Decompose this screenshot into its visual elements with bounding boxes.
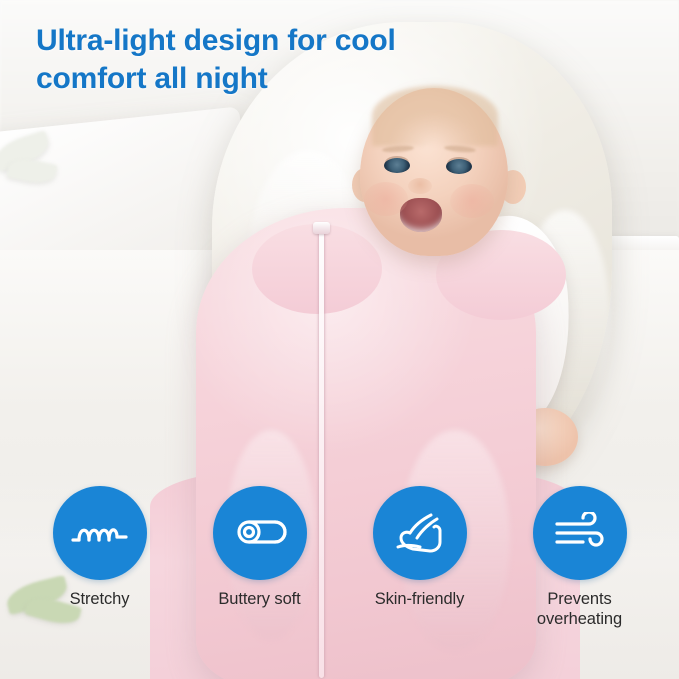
hand-fabric-icon bbox=[390, 509, 450, 557]
product-lifestyle-image: Ultra-light design for cool comfort all … bbox=[0, 0, 679, 679]
baby-nose bbox=[408, 178, 432, 194]
feature-label: Prevents overheating bbox=[520, 589, 640, 629]
feature-icon-badge bbox=[533, 486, 627, 580]
feature-badge-row: Stretchy Buttery soft bbox=[0, 486, 679, 629]
baby-cheek-right bbox=[450, 184, 494, 218]
feature-icon-badge bbox=[373, 486, 467, 580]
feature-label: Skin-friendly bbox=[375, 589, 464, 609]
baby-eye-left bbox=[384, 158, 410, 173]
baby-eye-right bbox=[446, 159, 472, 174]
zipper-pull bbox=[313, 222, 330, 234]
feature-label: Stretchy bbox=[70, 589, 130, 609]
feature-item-skin-friendly: Skin-friendly bbox=[360, 486, 480, 629]
feature-item-prevents-overheating: Prevents overheating bbox=[520, 486, 640, 629]
feature-icon-badge bbox=[53, 486, 147, 580]
sleep-sack-shoulder-left bbox=[252, 224, 382, 314]
airflow-icon bbox=[549, 512, 611, 554]
page-title: Ultra-light design for cool comfort all … bbox=[36, 22, 466, 99]
feature-icon-badge bbox=[213, 486, 307, 580]
feature-item-buttery-soft: Buttery soft bbox=[200, 486, 320, 629]
baby-cheek-left bbox=[364, 182, 408, 216]
feature-item-stretchy: Stretchy bbox=[40, 486, 160, 629]
feature-label: Buttery soft bbox=[218, 589, 300, 609]
fabric-roll-icon bbox=[231, 511, 289, 555]
stretch-coil-icon bbox=[70, 513, 130, 553]
